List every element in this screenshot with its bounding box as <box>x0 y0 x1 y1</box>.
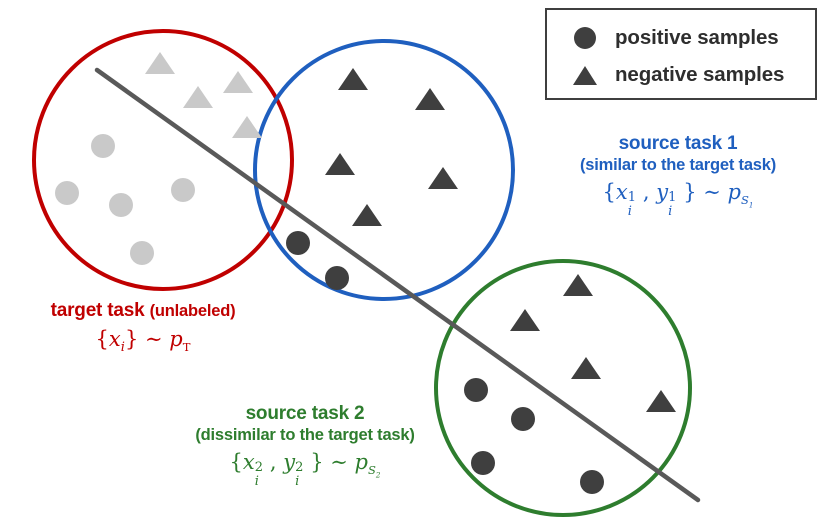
positive-sample-marker <box>286 231 310 255</box>
legend-box: positive samples negative samples <box>545 8 817 100</box>
formula-variable-x: x <box>616 180 628 204</box>
formula-close-brace: } <box>683 180 696 204</box>
negative-sample-marker <box>415 88 445 110</box>
formula-distribution-subscript: S1 <box>741 193 753 207</box>
legend-item-negative: negative samples <box>565 56 815 93</box>
positive-sample-marker <box>325 266 349 290</box>
negative-sample-marker <box>428 167 458 189</box>
formula-tilde: ∼ <box>145 327 163 351</box>
formula-distribution: p <box>728 180 741 204</box>
negative-sample-marker <box>325 153 355 175</box>
formula-subscript: i <box>668 204 672 219</box>
annotation-source-task-2: source task 2 (dissimilar to the target … <box>150 403 460 479</box>
annotation-source1-title: source task 1 <box>533 133 823 155</box>
positive-sample-marker <box>109 193 133 217</box>
positive-sample-marker <box>130 241 154 265</box>
negative-sample-marker <box>571 357 601 379</box>
annotation-source1-qualifier: (similar to the target task) <box>533 156 823 175</box>
triangle-marker-icon <box>565 62 605 88</box>
annotation-source-task-1: source task 1 (similar to the target tas… <box>533 133 823 209</box>
formula-open-brace: { <box>603 180 616 204</box>
annotation-target-qualifier: (unlabeled) <box>150 302 236 320</box>
positive-sample-marker <box>471 451 495 475</box>
positive-sample-marker <box>511 407 535 431</box>
positive-sample-marker <box>580 470 604 494</box>
formula-dist-number: 2 <box>376 470 381 479</box>
annotation-source2-qualifier: (dissimilar to the target task) <box>150 426 460 445</box>
negative-sample-marker <box>338 68 368 90</box>
legend-label-positive: positive samples <box>615 26 779 50</box>
formula-dist-number: 1 <box>749 200 754 209</box>
negative-sample-marker <box>232 116 262 138</box>
negative-sample-marker <box>183 86 213 108</box>
annotation-source2-formula: {x2i, y2i} ∼ pS2 <box>150 450 460 479</box>
formula-superscript: 1 <box>628 190 636 205</box>
annotation-target-task: target task (unlabeled) {xi} ∼ pT <box>8 300 278 355</box>
formula-open-brace: { <box>96 327 109 351</box>
series-target-unlabeled-positive <box>55 134 195 265</box>
positive-sample-marker <box>171 178 195 202</box>
formula-open-brace: { <box>230 450 243 474</box>
negative-sample-marker <box>145 52 175 74</box>
formula-distribution: p <box>169 327 182 351</box>
circle-marker-icon <box>565 25 605 51</box>
negative-sample-marker <box>223 71 253 93</box>
formula-variable: x <box>109 327 121 351</box>
formula-variable-y: y <box>283 450 295 474</box>
formula-variable-y: y <box>656 180 668 204</box>
annotation-source1-formula: {x1i, y1i} ∼ pS1 <box>533 180 823 209</box>
formula-subscript: i <box>255 474 259 489</box>
series-source1-negative <box>325 68 458 226</box>
annotation-target-title: target task <box>51 300 145 321</box>
negative-sample-marker <box>510 309 540 331</box>
positive-sample-marker <box>55 181 79 205</box>
negative-sample-marker <box>563 274 593 296</box>
formula-tilde: ∼ <box>330 450 348 474</box>
formula-distribution-subscript: S2 <box>368 463 380 477</box>
formula-close-brace: } <box>125 327 138 351</box>
positive-sample-marker <box>91 134 115 158</box>
source-task-1-circle <box>255 41 513 299</box>
formula-tilde: ∼ <box>703 180 721 204</box>
formula-distribution: p <box>355 450 368 474</box>
negative-sample-marker <box>646 390 676 412</box>
formula-superscript: 2 <box>255 460 263 475</box>
legend-label-negative: negative samples <box>615 63 784 87</box>
series-target-unlabeled-negative <box>145 52 262 138</box>
annotation-source2-title: source task 2 <box>150 403 460 425</box>
positive-sample-marker <box>464 378 488 402</box>
formula-superscript: 1 <box>668 190 676 205</box>
formula-dist-letter: S <box>368 463 376 477</box>
formula-dist-letter: S <box>741 193 749 207</box>
formula-variable-x: x <box>243 450 255 474</box>
legend-item-positive: positive samples <box>565 19 815 56</box>
formula-subscript: i <box>628 204 632 219</box>
formula-close-brace: } <box>310 450 323 474</box>
negative-sample-marker <box>352 204 382 226</box>
formula-distribution-subscript: T <box>183 340 191 354</box>
figure-canvas: positive samples negative samples target… <box>0 0 832 523</box>
annotation-target-formula: {xi} ∼ pT <box>8 327 278 355</box>
series-source2-positive <box>464 378 604 494</box>
formula-superscript: 2 <box>295 460 303 475</box>
annotation-target-title-row: target task (unlabeled) <box>8 300 278 322</box>
formula-subscript: i <box>295 474 299 489</box>
